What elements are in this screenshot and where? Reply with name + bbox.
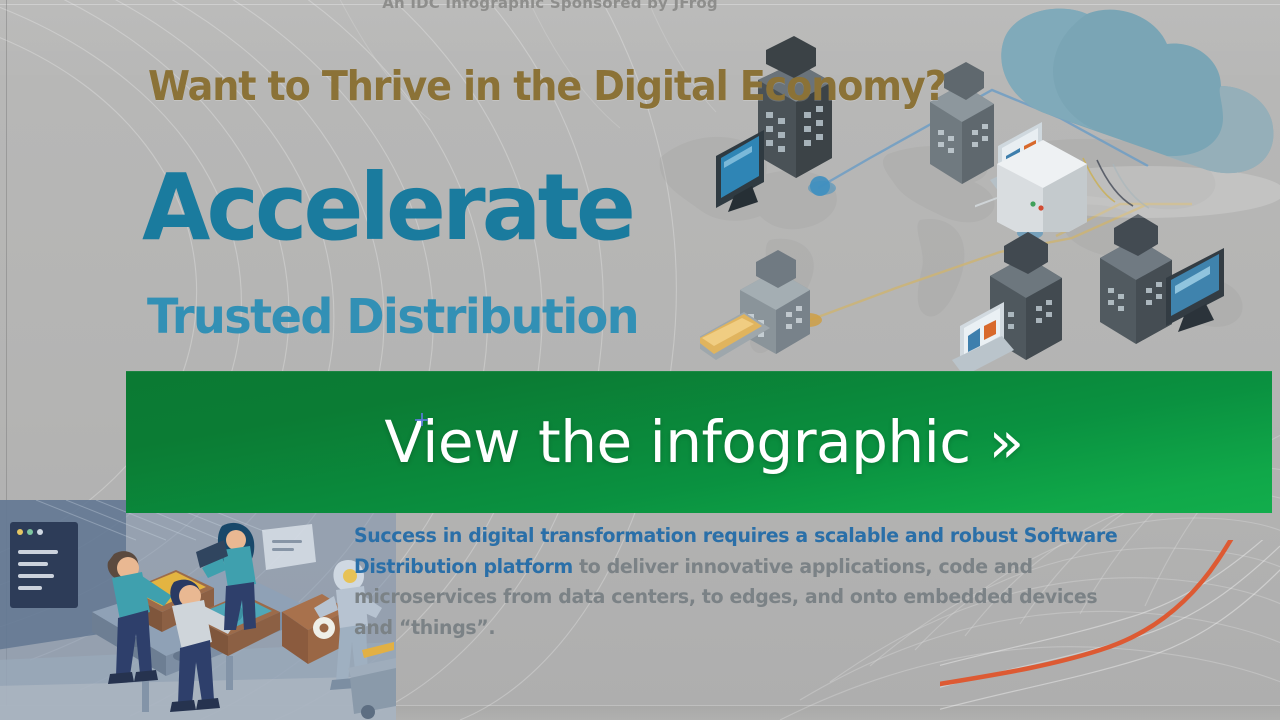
ad-banner-screenshot: An IDC Infographic Sponsored by JFrog Wa… bbox=[0, 0, 1280, 720]
headline-accelerate: Accelerate bbox=[142, 162, 632, 254]
cloud-server-icon bbox=[975, 0, 1280, 232]
view-infographic-cta-button[interactable]: View the infographic » bbox=[126, 371, 1272, 513]
headline-question: Want to Thrive in the Digital Economy? bbox=[148, 62, 946, 110]
warehouse-conveyor-workers-robot bbox=[0, 500, 396, 720]
cta-label: View the infographic » bbox=[126, 371, 1272, 513]
headline-trusted-distribution: Trusted Distribution bbox=[147, 293, 638, 341]
sponsor-kicker: An IDC Infographic Sponsored by JFrog bbox=[0, 0, 1100, 12]
body-copy: Success in digital transformation requir… bbox=[354, 521, 1130, 643]
